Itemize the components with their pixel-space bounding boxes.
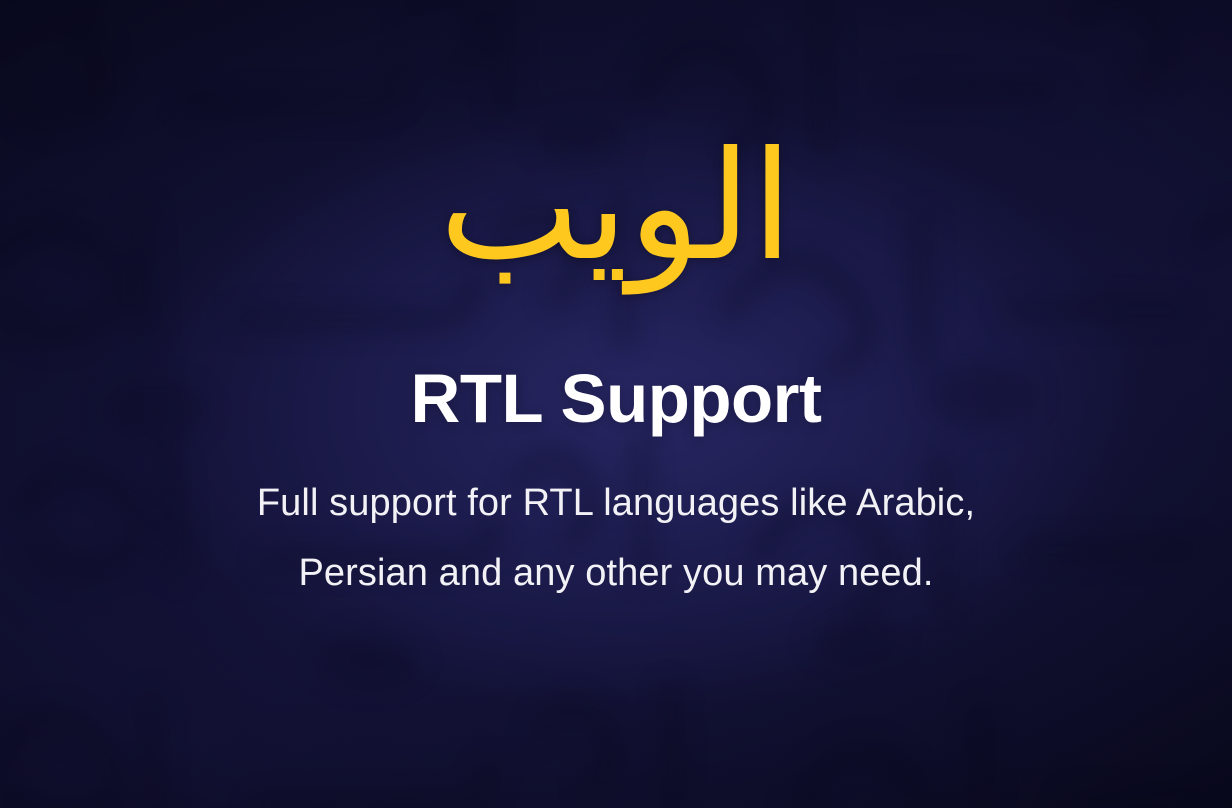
arabic-wordmark: الويب [0,112,1232,302]
hero-content: الويب RTL Support Full support for RTL l… [0,0,1232,608]
page-title: RTL Support [0,364,1232,433]
rtl-support-hero-section: الويب RTL Support Full support for RTL l… [0,0,1232,808]
page-subtitle-line-2: Persian and any other you may need. [0,538,1232,608]
page-subtitle: Full support for RTL languages like Arab… [0,468,1232,608]
page-subtitle-line-1: Full support for RTL languages like Arab… [0,468,1232,538]
